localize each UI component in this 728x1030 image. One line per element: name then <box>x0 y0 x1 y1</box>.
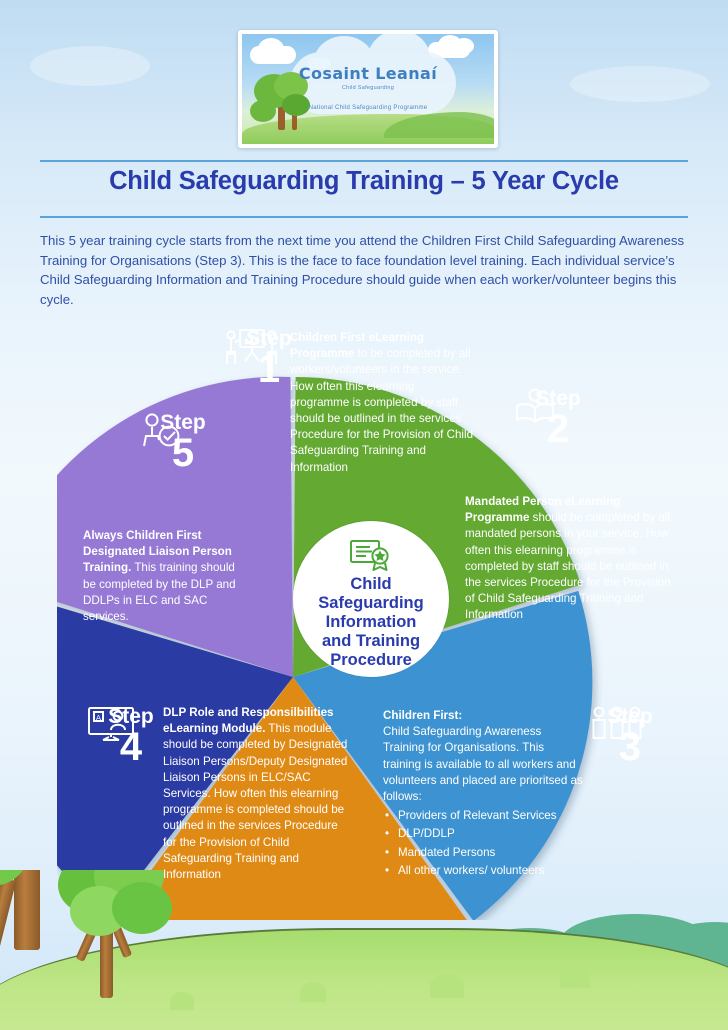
step-3-label: Step 3 <box>589 706 671 767</box>
logo-subtitle: Child Safeguarding <box>242 85 494 91</box>
logo-programme: National Child Safeguarding Programme <box>242 105 494 111</box>
step-5-label: Step 5 <box>137 412 229 473</box>
step-2-label: Step 2 <box>512 388 604 449</box>
step-4-body: DLP Role and Responsilbilities eLearning… <box>163 705 349 883</box>
monitor-person-icon: A <box>85 706 137 742</box>
logo-text-block: Cosaint Leanaí Child Safeguarding Nation… <box>242 64 494 111</box>
grass-tuft <box>430 974 464 998</box>
step-2-text: should be completed by all mandated pers… <box>465 511 671 621</box>
grass-tuft <box>300 982 326 1002</box>
presentation-board-icon <box>224 328 278 368</box>
center-hub: Child Safeguarding Information and Train… <box>293 521 449 677</box>
group-of-people-icon <box>589 706 645 740</box>
step-2-body: Mandated Person eLearning Programme shou… <box>465 494 681 624</box>
tree-small <box>54 870 184 1020</box>
organisation-logo: Cosaint Leanaí Child Safeguarding Nation… <box>238 30 498 148</box>
step-3-heading: Children First: <box>383 709 462 722</box>
step-3-text: Child Safeguarding Awareness Training fo… <box>383 725 583 803</box>
hub-line-4: and Training <box>322 632 420 650</box>
hub-line-5: Procedure <box>330 651 412 669</box>
person-reading-book-icon <box>512 388 558 428</box>
logo-cloud <box>454 38 474 54</box>
svg-text:A: A <box>96 713 101 722</box>
page-title: Child Safeguarding Training – 5 Year Cyc… <box>40 167 688 196</box>
step-1-text: to be completed by all workers/volunteer… <box>290 347 473 473</box>
step-3-bullet-list: Providers of Relevant Services DLP/DDLP … <box>383 808 583 879</box>
grass-tuft <box>560 966 590 988</box>
step-4-text: This module should be completed by Desig… <box>163 722 347 881</box>
infographic-page: Cosaint Leanaí Child Safeguarding Nation… <box>0 0 728 1030</box>
certificate-icon <box>348 539 394 573</box>
person-check-icon <box>137 412 183 450</box>
logo-title: Cosaint Leanaí <box>242 64 494 83</box>
background-cloud <box>570 66 710 102</box>
background-cloud <box>30 46 150 86</box>
list-item: DLP/DDLP <box>396 826 583 842</box>
step-3-body: Children First: Child Safeguarding Aware… <box>383 708 583 881</box>
list-item: Providers of Relevant Services <box>396 808 583 824</box>
hub-title: Child Safeguarding Information and Train… <box>318 575 423 670</box>
title-rule-top <box>40 160 688 162</box>
hub-line-3: Information <box>326 613 417 631</box>
bottom-landscape <box>0 870 728 1030</box>
intro-paragraph: This 5 year training cycle starts from t… <box>40 231 690 309</box>
title-rule-bottom <box>40 216 688 218</box>
hub-line-2: Safeguarding <box>318 594 423 612</box>
logo-cloud <box>258 38 284 60</box>
step-5-body: Always Children First Designated Liaison… <box>83 528 243 625</box>
step-1-body: Children First eLearning Programme to be… <box>290 330 473 476</box>
list-item: Mandated Persons <box>396 845 583 861</box>
hub-line-1: Child <box>350 575 391 593</box>
